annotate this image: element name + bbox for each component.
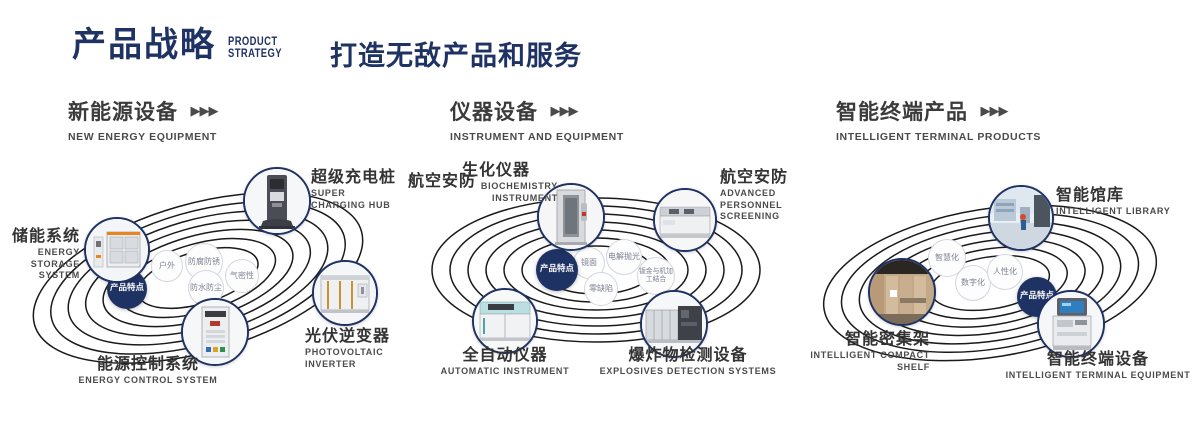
label-cn: 生化仪器	[462, 161, 558, 179]
label-intelligent-library: 智能馆库 INTELLIGENT LIBRARY	[1056, 186, 1176, 218]
section-title-cn: 新能源设备	[68, 96, 178, 126]
compact-shelving-icon	[870, 260, 934, 324]
label-en: BIOCHEMISTRY INSTRUMENT	[462, 181, 558, 204]
node-intelligent-library[interactable]	[988, 185, 1054, 251]
node-intelligent-terminal-equipment[interactable]	[1037, 290, 1105, 358]
label-en: INTELLIGENT TERMINAL EQUIPMENT	[1000, 370, 1196, 381]
section-title-instrument: 仪器设备 ▶▶▶ INSTRUMENT AND EQUIPMENT	[450, 96, 624, 143]
label-en: AUTOMATIC INSTRUMENT	[430, 366, 580, 377]
label-energy-control-system: 能源控制系统 ENERGY CONTROL SYSTEM	[78, 355, 218, 387]
label-intelligent-compact-shelf: 智能密集架 INTELLIGENT COMPACT SHELF	[800, 330, 930, 373]
label-en: ENERGY STORAGE SYSTEM	[0, 247, 80, 281]
feature-bubble: 户外	[151, 250, 183, 282]
section-title-intelligent-terminal: 智能终端产品 ▶▶▶ INTELLIGENT TERMINAL PRODUCTS	[836, 96, 1041, 143]
node-advanced-personnel-screening[interactable]	[653, 188, 717, 252]
label-cn: 储能系统	[0, 227, 80, 245]
label-cn: 智能密集架	[800, 330, 930, 348]
energy-storage-cabinet-icon	[86, 219, 148, 281]
feature-bubble: 人性化	[987, 254, 1023, 290]
personnel-screening-machine-icon	[655, 190, 715, 250]
core-bubble: 产品特点	[536, 249, 578, 291]
chevron-right-icon: ▶▶▶	[190, 103, 217, 119]
page-title: 产品战略	[72, 28, 216, 62]
label-explosives-detection-systems: 爆炸物检测设备 EXPLOSIVES DETECTION SYSTEMS	[598, 346, 778, 378]
label-intelligent-terminal-equipment: 智能终端设备 INTELLIGENT TERMINAL EQUIPMENT	[1000, 350, 1196, 382]
label-biochemistry-instrument: 生化仪器 BIOCHEMISTRY INSTRUMENT	[462, 161, 558, 204]
label-en: INTELLIGENT COMPACT SHELF	[800, 350, 930, 373]
feature-bubble: 气密性	[225, 259, 259, 293]
section-title-en: NEW ENERGY EQUIPMENT	[68, 131, 217, 143]
label-cn: 全自动仪器	[430, 346, 580, 364]
node-intelligent-compact-shelf[interactable]	[868, 258, 936, 326]
label-cn: 爆炸物检测设备	[598, 346, 778, 364]
page-subtitle: 打造无敌产品和服务	[330, 34, 582, 73]
diagram-intelligent-terminal: 智慧化 数字化 人性化 产品特点 智能	[800, 150, 1200, 420]
charging-pile-icon	[245, 169, 309, 233]
diagram-instrument: 镜面 电解抛光 钣金与机加工结合 零缺陷 产品特点 航空安防	[400, 150, 800, 420]
self-service-kiosk-icon	[1039, 292, 1103, 356]
label-cn: 光伏逆变器	[305, 327, 405, 345]
label-en: SUPER CHARGING HUB	[311, 188, 401, 211]
product-strategy-infographic: 产品战略 PRODUCT STRATEGY 打造无敌产品和服务 新能源设备 ▶▶…	[0, 0, 1200, 422]
node-photovoltaic-inverter[interactable]	[312, 260, 378, 326]
automatic-analyzer-icon	[474, 290, 536, 352]
section-title-en: INTELLIGENT TERMINAL PRODUCTS	[836, 131, 1041, 143]
label-cn: 能源控制系统	[78, 355, 218, 373]
page-title-en: PRODUCT STRATEGY	[228, 36, 282, 60]
label-cn: 超级充电桩	[311, 168, 401, 186]
node-super-charging-hub[interactable]	[243, 167, 311, 235]
section-title-cn: 仪器设备	[450, 96, 538, 126]
diagram-new-energy: 防腐防锈 防水防尘 户外 气密性 产品特点	[0, 150, 400, 420]
label-photovoltaic-inverter: 光伏逆变器 PHOTOVOLTAIC INVERTER	[305, 327, 405, 370]
label-cn: 智能终端设备	[1000, 350, 1196, 368]
pv-inverter-cabinet-icon	[314, 262, 376, 324]
feature-bubble: 电解抛光	[606, 239, 642, 275]
label-en: PHOTOVOLTAIC INVERTER	[305, 347, 405, 370]
chevron-right-icon: ▶▶▶	[980, 103, 1007, 119]
label-super-charging-hub: 超级充电桩 SUPER CHARGING HUB	[311, 168, 401, 211]
section-title-cn: 智能终端产品	[836, 96, 968, 126]
feature-bubble: 数字化	[955, 265, 991, 301]
page-header: 产品战略 PRODUCT STRATEGY	[72, 28, 294, 62]
feature-bubble: 零缺陷	[584, 272, 618, 306]
smart-library-room-icon	[990, 187, 1052, 249]
label-cn: 智能馆库	[1056, 186, 1176, 204]
node-energy-storage-system[interactable]	[84, 217, 150, 283]
label-energy-storage-system: 储能系统 ENERGY STORAGE SYSTEM	[0, 227, 80, 281]
label-automatic-instrument: 全自动仪器 AUTOMATIC INSTRUMENT	[430, 346, 580, 378]
label-en: EXPLOSIVES DETECTION SYSTEMS	[598, 366, 778, 377]
chevron-right-icon: ▶▶▶	[550, 103, 577, 119]
section-title-new-energy: 新能源设备 ▶▶▶ NEW ENERGY EQUIPMENT	[68, 96, 217, 143]
label-en: ENERGY CONTROL SYSTEM	[78, 375, 218, 386]
section-title-en: INSTRUMENT AND EQUIPMENT	[450, 131, 624, 143]
label-en: INTELLIGENT LIBRARY	[1056, 206, 1176, 217]
